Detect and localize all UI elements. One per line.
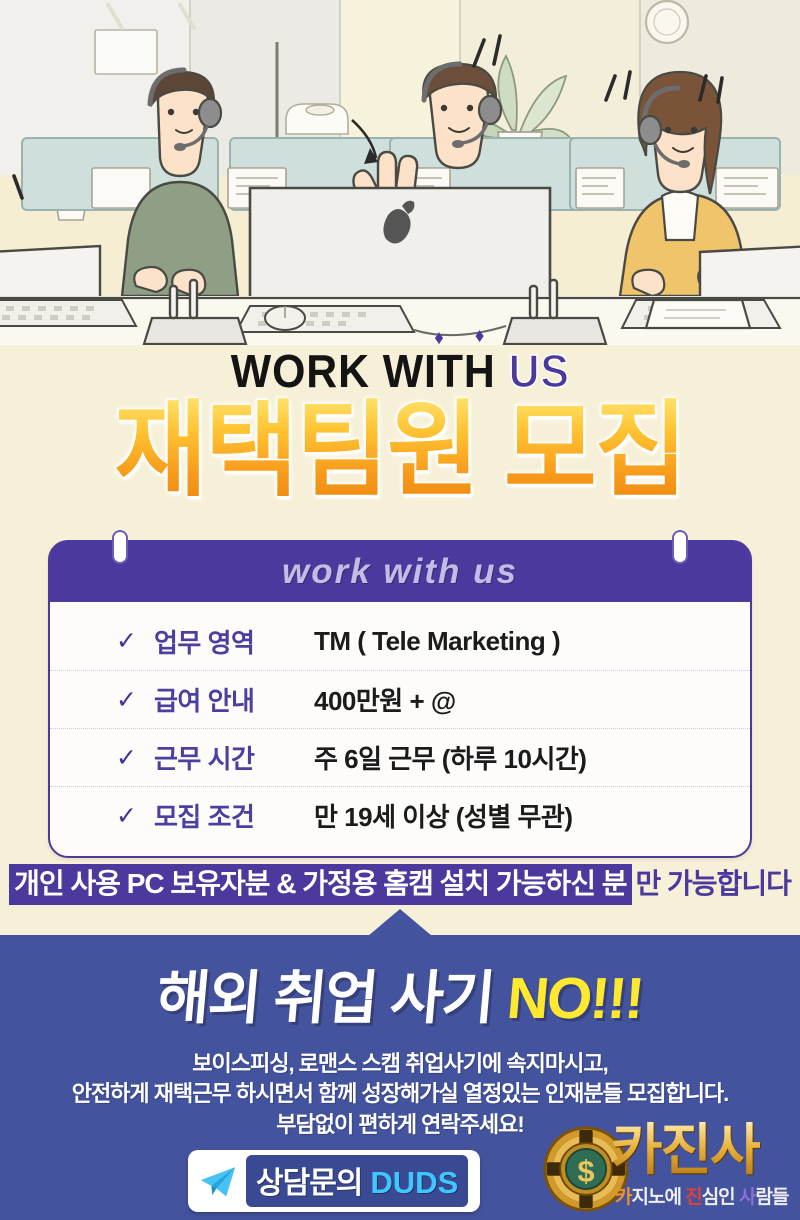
contact-button[interactable]: 상담문의 DUDS [188,1150,480,1212]
check-icon: ✓ [116,626,154,656]
row-label: 급여 안내 [154,681,314,718]
row-value: TM ( Tele Marketing ) [314,626,560,657]
hero-english-accent: US [508,345,569,397]
telegram-icon [198,1163,238,1199]
watermark-sub-2: 지노에 [631,1187,685,1208]
requirement-notice: 개인 사용 PC 보유자분 & 가정용 홈캠 설치 가능하신 분만 가능합니다 [0,862,800,902]
warning-line: 안전하게 재택근무 하시면서 함께 성장해가실 열정있는 인재분들 모집합니다. [0,1079,800,1109]
contact-handle: DUDS [370,1165,458,1201]
card-clip-left-icon [112,530,128,564]
info-card: work with us ✓ 업무 영역 TM ( Tele Marketing… [48,540,752,858]
warning-heading: 해외 취업 사기 NO!!! [0,951,800,1035]
watermark: $ 카진사 카지노에 진심인 사람들 [543,1118,800,1220]
watermark-title: 카진사 [611,1122,760,1178]
hero-korean-title: 재택팀원 모집 [12,398,788,504]
row-label: 업무 영역 [154,623,314,660]
sparkle-icon: ♦ [475,326,485,346]
check-icon: ✓ [116,801,154,831]
contact-label: 상담문의 [256,1158,362,1202]
callcenter-illustration [0,0,800,345]
row-label: 모집 조건 [154,797,314,834]
row-label: 근무 시간 [154,739,314,776]
info-card-header-label: work with us [282,552,518,592]
table-row: ✓ 근무 시간 주 6일 근무 (하루 10시간) [50,728,750,786]
info-card-header: work with us [50,542,750,602]
info-card-body: ✓ 업무 영역 TM ( Tele Marketing ) ✓ 급여 안내 40… [50,602,750,856]
notice-highlight: 개인 사용 PC 보유자분 & 가정용 홈캠 설치 가능하신 분 [9,864,631,905]
watermark-sub-3: 진 [685,1187,701,1208]
svg-text:$: $ [578,1154,595,1188]
watermark-sub-5: 사 [739,1187,755,1208]
warning-heading-main: 해외 취업 사기 [154,966,510,1031]
row-value: 만 19세 이상 (성별 무관) [314,797,573,834]
poster-root: WORK WITH US ♦ ♦ 재택팀원 모집 work with us ✓ … [0,0,800,1220]
hero-english-title: WORK WITH US ♦ ♦ [230,348,569,394]
notice-plain: 만 가능합니다 [632,868,791,899]
watermark-sub-6: 람들 [755,1187,788,1208]
hero-block: WORK WITH US ♦ ♦ 재택팀원 모집 [0,348,800,504]
row-value: 주 6일 근무 (하루 10시간) [314,739,586,776]
warning-line: 보이스피싱, 로맨스 스캠 취업사기에 속지마시고, [0,1049,800,1079]
table-row: ✓ 업무 영역 TM ( Tele Marketing ) [50,612,750,670]
table-row: ✓ 모집 조건 만 19세 이상 (성별 무관) [50,786,750,844]
check-icon: ✓ [116,743,154,773]
table-row: ✓ 급여 안내 400만원 + @ [50,670,750,728]
arrow-up-icon [368,909,432,936]
contact-inner: 상담문의 DUDS [246,1155,468,1207]
warning-heading-accent: NO!!! [504,966,645,1031]
watermark-sub-4: 심인 [702,1187,739,1208]
watermark-sub-1: 카 [615,1187,631,1208]
hero-english-text: WORK WITH [230,345,508,397]
watermark-subtitle: 카지노에 진심인 사람들 [615,1182,788,1209]
check-icon: ✓ [116,685,154,715]
sparkle-icon: ♦ [434,328,444,348]
card-clip-right-icon [672,530,688,564]
row-value: 400만원 + @ [314,681,456,718]
